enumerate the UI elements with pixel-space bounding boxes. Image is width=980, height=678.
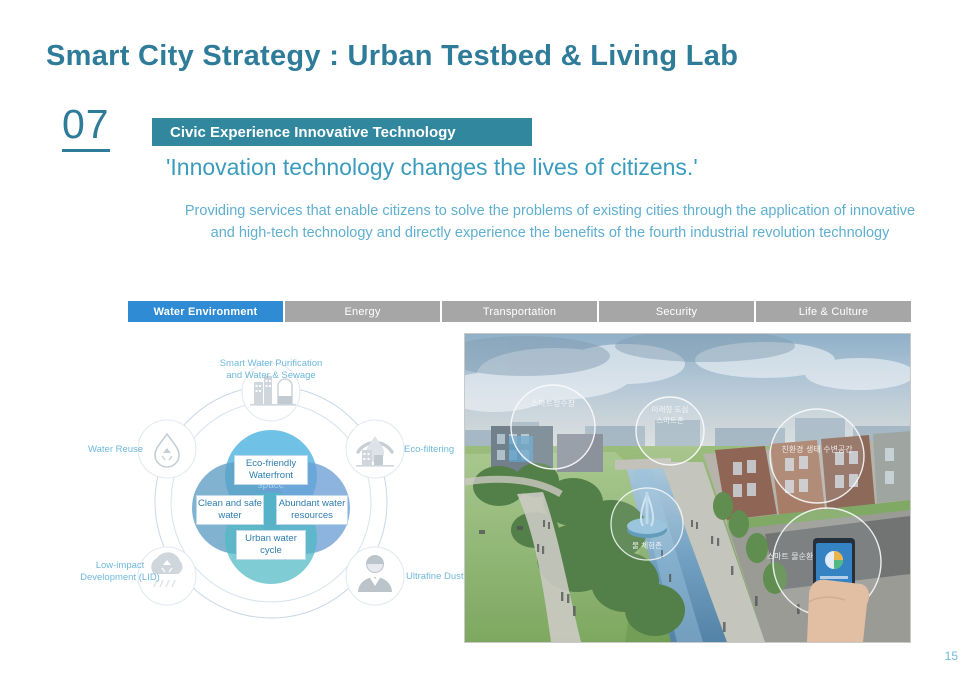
page-title: Smart City Strategy : Urban Testbed & Li…	[46, 40, 738, 73]
photo-canvas: 스마트정수장 미래형 도심 스마트존 친환경 생태 수변공간 물 체험존 스마트…	[465, 334, 910, 642]
diagram-label-ultrafine-dust: Ultrafine Dust	[406, 571, 464, 583]
tab-transportation[interactable]: Transportation	[442, 301, 597, 322]
page-number: 15	[945, 649, 958, 663]
water-environment-diagram: Smart Water Purification and Water & Sew…	[86, 352, 456, 642]
section-number-badge: 07	[62, 104, 110, 152]
smart-city-rendering-photo: 스마트정수장 미래형 도심 스마트존 친환경 생태 수변공간 물 체험존 스마트…	[464, 333, 911, 643]
section-label-box: Civic Experience Innovative Technology	[152, 118, 532, 146]
category-tabbar: Water Environment Energy Transportation …	[128, 301, 911, 322]
tab-water-environment[interactable]: Water Environment	[128, 301, 283, 322]
diagram-label-eco-filtering: Eco-filtering	[404, 444, 454, 456]
section-subtitle: 'Innovation technology changes the lives…	[166, 154, 698, 181]
tab-energy[interactable]: Energy	[285, 301, 440, 322]
tab-life-culture[interactable]: Life & Culture	[756, 301, 911, 322]
diagram-label-smart-water-purification: Smart Water Purification and Water & Sew…	[216, 358, 326, 382]
venn-label-abundant-water-resources: Abundant water resources	[276, 495, 348, 525]
venn-label-urban-water-cycle: Urban water cycle	[236, 530, 306, 560]
venn-label-clean-and-safe-water: Clean and safe water	[196, 495, 264, 525]
diagram-canvas	[86, 352, 456, 642]
section-body-text: Providing services that enable citizens …	[182, 200, 918, 244]
diagram-label-low-impact-development: Low-impact Development (LID)	[78, 560, 162, 584]
tab-security[interactable]: Security	[599, 301, 754, 322]
venn-label-eco-friendly-waterfront: Eco-friendly Waterfront	[234, 455, 308, 485]
diagram-label-water-reuse: Water Reuse	[88, 444, 143, 456]
